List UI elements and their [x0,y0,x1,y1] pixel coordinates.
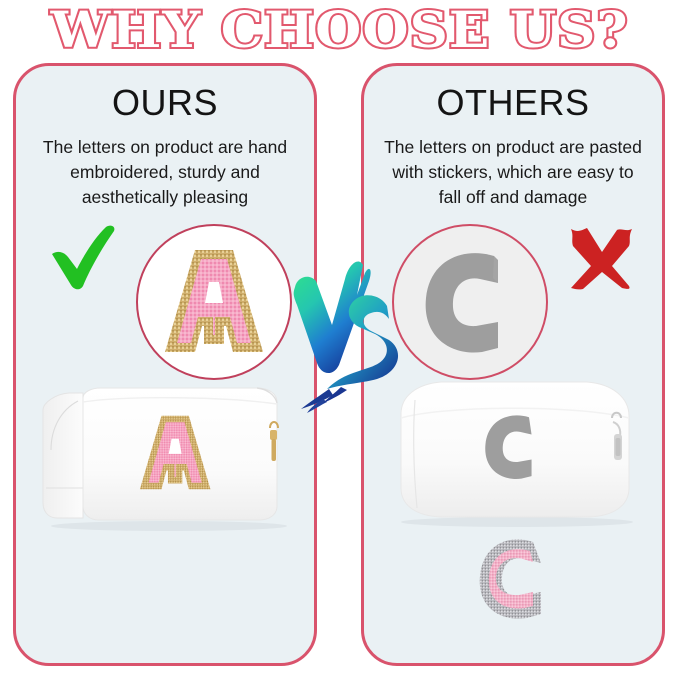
panel-heading-ours: OURS [16,82,314,124]
check-icon [50,224,118,290]
cross-icon [566,226,634,292]
comparison-panel-others: OTHERS The letters on product are pasted… [361,63,665,666]
chenille-letter-a-patch [138,226,290,378]
product-image-ours-pouch [21,358,311,533]
patch-closeup-ours [136,224,292,380]
comparison-panel-ours: OURS The letters on product are hand emb… [13,63,317,666]
panel-heading-others: OTHERS [364,82,662,124]
page-title-bar: WHY CHOOSE US? [0,0,679,60]
panel-description-others: The letters on product are pasted with s… [382,135,644,210]
product-image-others-pouch [371,356,661,531]
vs-badge [283,243,401,418]
fallen-chenille-letter-c-patch [471,532,555,620]
page-title: WHY CHOOSE US? [51,5,629,55]
panel-description-ours: The letters on product are hand embroide… [34,135,296,210]
